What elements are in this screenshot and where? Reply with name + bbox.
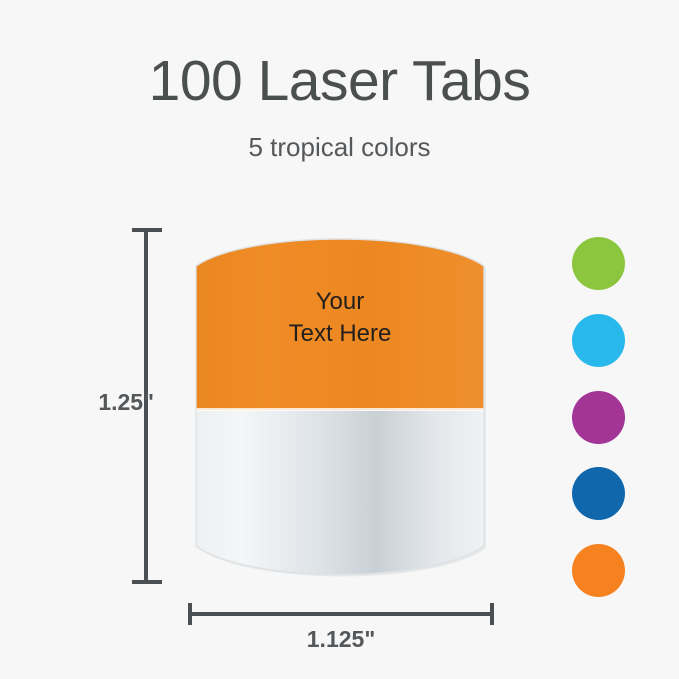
height-dimension-callout: 1.25" [44,226,174,586]
color-swatch-light-blue [572,314,625,367]
width-dimension-line [190,603,492,625]
tab-body [188,228,492,588]
color-swatch-green [572,237,625,290]
color-swatch-list [561,237,635,597]
width-dimension-label: 1.125" [186,626,496,653]
color-swatch-magenta [572,391,625,444]
product-image-canvas: 100 Laser Tabs 5 tropical colors [0,0,679,679]
tab-write-on-area [188,410,492,588]
height-dimension-label: 1.25" [44,389,154,416]
page-subtitle: 5 tropical colors [0,133,679,162]
width-dimension-callout: 1.125" [186,600,496,658]
color-swatch-dark-blue [572,467,625,520]
tab-color-band [188,228,492,410]
page-title: 100 Laser Tabs [0,52,679,112]
tab-product-illustration: Your Text Here [188,228,492,588]
color-swatch-orange [572,544,625,597]
tab-band-divider [188,408,492,411]
